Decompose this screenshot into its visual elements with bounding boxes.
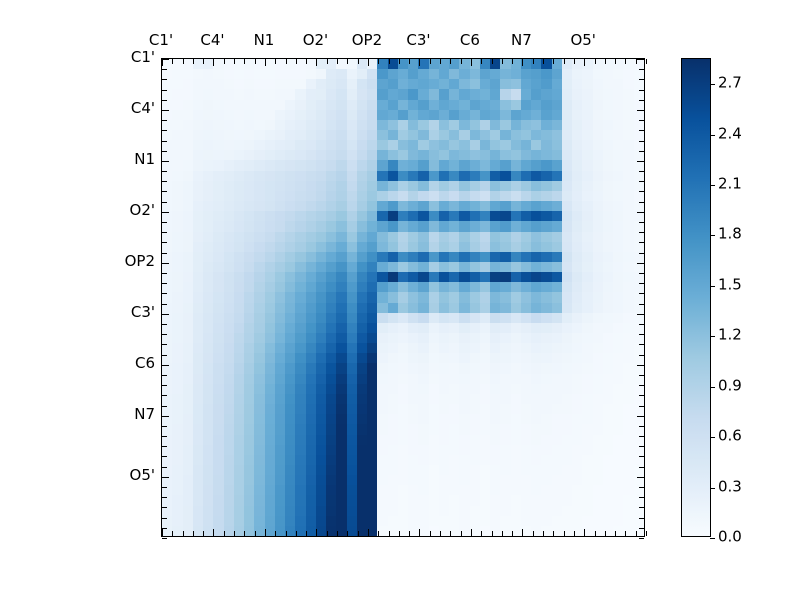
heatmap-cell: [265, 130, 275, 140]
heatmap-cell: [613, 191, 623, 201]
heatmap-cell: [470, 232, 480, 242]
heatmap-cell: [429, 394, 439, 404]
heatmap-cell: [490, 363, 500, 373]
heatmap-cell: [254, 455, 264, 465]
heatmap-cell: [490, 160, 500, 170]
heatmap-cell: [593, 232, 603, 242]
heatmap-cell: [183, 150, 193, 160]
heatmap-cell: [306, 475, 316, 485]
heatmap-cell: [480, 445, 490, 455]
heatmap-cell: [531, 171, 541, 181]
heatmap-cell: [388, 171, 398, 181]
heatmap-cell: [183, 191, 193, 201]
heatmap-cell: [418, 435, 428, 445]
heatmap-cell: [470, 384, 480, 394]
heatmap-cell: [613, 435, 623, 445]
axis-tick: [639, 191, 644, 192]
heatmap-cell: [552, 475, 562, 485]
heatmap-cell: [613, 130, 623, 140]
heatmap-cell: [285, 150, 295, 160]
heatmap-cell: [254, 252, 264, 262]
heatmap-cell: [490, 242, 500, 252]
heatmap-cell: [603, 262, 613, 272]
heatmap-cell: [367, 404, 377, 414]
heatmap-cell: [531, 211, 541, 221]
heatmap-cell: [295, 110, 305, 120]
heatmap-cell: [541, 313, 551, 323]
heatmap-cell: [326, 232, 336, 242]
heatmap-cell: [623, 140, 633, 150]
heatmap-cell: [347, 353, 357, 363]
heatmap-cell: [552, 384, 562, 394]
heatmap-cell: [254, 404, 264, 414]
heatmap-cell: [244, 59, 254, 69]
heatmap-cell: [582, 435, 592, 445]
heatmap-cell: [183, 404, 193, 414]
heatmap-cell: [439, 516, 449, 526]
heatmap-cell: [357, 343, 367, 353]
heatmap-cell: [459, 414, 469, 424]
heatmap-cell: [295, 201, 305, 211]
heatmap-cell: [623, 506, 633, 516]
heatmap-cell: [388, 495, 398, 505]
heatmap-cell: [213, 69, 223, 79]
heatmap-cell: [552, 343, 562, 353]
heatmap-cell: [213, 282, 223, 292]
heatmap-cell: [408, 516, 418, 526]
heatmap-cell: [439, 414, 449, 424]
heatmap-cell: [480, 100, 490, 110]
heatmap-cell: [552, 130, 562, 140]
heatmap-cell: [531, 506, 541, 516]
heatmap-cell: [295, 455, 305, 465]
heatmap-cell: [326, 201, 336, 211]
heatmap-cell: [224, 89, 234, 99]
heatmap-cell: [265, 313, 275, 323]
heatmap-cell: [613, 323, 623, 333]
heatmap-cell: [439, 445, 449, 455]
axis-tick: [492, 531, 493, 536]
heatmap-cell: [511, 171, 521, 181]
axis-tick: [639, 467, 644, 468]
heatmap-cell: [500, 465, 510, 475]
heatmap-cell: [582, 424, 592, 434]
heatmap-cell: [552, 89, 562, 99]
heatmap-cell: [541, 394, 551, 404]
heatmap-cell: [531, 353, 541, 363]
heatmap-cell: [593, 343, 603, 353]
heatmap-cell: [490, 445, 500, 455]
heatmap-cell: [203, 140, 213, 150]
axis-tick: [461, 59, 462, 64]
heatmap-cell: [203, 191, 213, 201]
heatmap-cell: [623, 89, 633, 99]
heatmap-cell: [470, 140, 480, 150]
heatmap-cell: [490, 130, 500, 140]
heatmap-cell: [418, 394, 428, 404]
heatmap-cell: [357, 424, 367, 434]
heatmap-cell: [316, 211, 326, 221]
heatmap-cell: [172, 485, 182, 495]
heatmap-cell: [357, 363, 367, 373]
heatmap-cell: [449, 221, 459, 231]
heatmap-cell: [582, 89, 592, 99]
heatmap-cell: [634, 140, 644, 150]
axis-tick: [639, 324, 644, 325]
axis-tick: [162, 171, 167, 172]
heatmap-cell: [326, 100, 336, 110]
heatmap-cell: [193, 333, 203, 343]
heatmap-cell: [398, 242, 408, 252]
heatmap-cell: [500, 232, 510, 242]
heatmap-cell: [295, 353, 305, 363]
axis-tick: [564, 59, 565, 64]
heatmap-cell: [480, 120, 490, 130]
heatmap-cell: [254, 303, 264, 313]
heatmap-cell: [634, 120, 644, 130]
colorbar[interactable]: [681, 58, 711, 537]
heatmap-cell: [244, 150, 254, 160]
heatmap-cell: [521, 424, 531, 434]
heatmap-cell: [193, 69, 203, 79]
heatmap-cell: [203, 363, 213, 373]
heatmap-cell: [500, 394, 510, 404]
heatmap-grid: [162, 59, 644, 536]
heatmap-cell: [511, 150, 521, 160]
axis-tick: [378, 59, 379, 64]
heatmap-cell: [449, 232, 459, 242]
heatmap-cell: [418, 110, 428, 120]
heatmap-cell: [326, 181, 336, 191]
heatmap-cell: [439, 435, 449, 445]
heatmap-cell: [490, 272, 500, 282]
heatmap-cell: [449, 465, 459, 475]
heatmap-cell: [347, 140, 357, 150]
heatmap-cell: [480, 262, 490, 272]
heatmap-cell: [511, 292, 521, 302]
heatmap-cell: [213, 485, 223, 495]
heatmap-cell: [418, 221, 428, 231]
heatmap-cell: [470, 323, 480, 333]
heatmap-cell: [193, 435, 203, 445]
heatmap-cell: [572, 323, 582, 333]
heatmap-cell: [377, 353, 387, 363]
heatmap-cell: [224, 506, 234, 516]
heatmap-cell: [326, 435, 336, 445]
axis-tick: [639, 202, 644, 203]
heatmap-cell: [285, 506, 295, 516]
axis-tick: [296, 531, 297, 536]
heatmap-cell: [531, 191, 541, 201]
axis-tick: [639, 497, 644, 498]
heatmap-cell: [623, 363, 633, 373]
heatmap-cell: [439, 495, 449, 505]
heatmap-cell: [480, 384, 490, 394]
heatmap-cell: [603, 516, 613, 526]
heatmap-cell: [275, 384, 285, 394]
heatmap-cell: [172, 181, 182, 191]
heatmap-cell: [459, 150, 469, 160]
heatmap-cell: [449, 506, 459, 516]
heatmap-cell: [347, 485, 357, 495]
heatmap-cell: [490, 100, 500, 110]
heatmap-cell: [275, 323, 285, 333]
heatmap-cell: [162, 181, 172, 191]
heatmap-cell: [306, 333, 316, 343]
heatmap-cell: [459, 363, 469, 373]
heatmap-cell: [265, 475, 275, 485]
heatmap-cell: [490, 475, 500, 485]
heatmap-cell: [521, 110, 531, 120]
heatmap-cell: [603, 89, 613, 99]
heatmap-cell: [541, 242, 551, 252]
figure-canvas: C1'C4'N1O2'OP2C3'C6N7O5' C1'C4'N1O2'OP2C…: [0, 0, 800, 600]
axis-tick: [522, 529, 523, 536]
heatmap-cell: [285, 485, 295, 495]
heatmap-cell: [418, 171, 428, 181]
heatmap-cell: [572, 455, 582, 465]
heatmap-cell: [326, 313, 336, 323]
heatmap-cell: [613, 455, 623, 465]
heatmap-cell: [285, 242, 295, 252]
heatmap-cell: [203, 414, 213, 424]
heatmap-cell: [541, 201, 551, 211]
heatmap-cell: [234, 485, 244, 495]
heatmap-cell: [377, 374, 387, 384]
heatmap-cell: [193, 181, 203, 191]
heatmap-cell: [613, 394, 623, 404]
heatmap-cell: [347, 414, 357, 424]
heatmap-cell: [511, 262, 521, 272]
heatmap-cell: [470, 404, 480, 414]
heatmap-cell: [490, 181, 500, 191]
heatmap-cell: [254, 506, 264, 516]
axis-tick: [162, 385, 167, 386]
heatmap-cell: [244, 404, 254, 414]
heatmap-cell: [511, 353, 521, 363]
heatmap-cell: [183, 353, 193, 363]
heatmap-cell: [203, 89, 213, 99]
heatmap-cell: [552, 282, 562, 292]
heatmap-cell: [244, 313, 254, 323]
heatmap-cell: [367, 455, 377, 465]
heatmap-cell: [562, 171, 572, 181]
heatmap-cell: [521, 435, 531, 445]
heatmap-cell: [265, 59, 275, 69]
heatmap-cell: [603, 69, 613, 79]
heatmap-cell: [172, 221, 182, 231]
heatmap-cell: [552, 211, 562, 221]
heatmap-cell: [234, 313, 244, 323]
heatmap-cell: [500, 333, 510, 343]
heatmap-cell: [213, 160, 223, 170]
heatmap-cell: [449, 150, 459, 160]
heatmap-cell: [234, 374, 244, 384]
heatmap-cell: [439, 333, 449, 343]
heatmap-cell: [398, 191, 408, 201]
heatmap-cell: [521, 191, 531, 201]
heatmap-cell: [613, 171, 623, 181]
heatmap-cell: [439, 140, 449, 150]
heatmap-cell: [234, 181, 244, 191]
heatmap-cell: [347, 79, 357, 89]
heatmap-cell: [572, 384, 582, 394]
heatmap-cell: [203, 150, 213, 160]
heatmap-cell: [367, 394, 377, 404]
heatmap-cell: [562, 242, 572, 252]
heatmap-cell: [562, 323, 572, 333]
heatmap-cell: [552, 252, 562, 262]
axis-tick: [595, 531, 596, 536]
heatmap-cell: [459, 272, 469, 282]
heatmap-cell: [316, 242, 326, 252]
heatmap-cell: [439, 485, 449, 495]
heatmap-cell: [500, 445, 510, 455]
heatmap-cell: [336, 110, 346, 120]
heatmap-cell: [306, 313, 316, 323]
heatmap-cell: [316, 343, 326, 353]
heatmap-cell: [265, 120, 275, 130]
heatmap-cell: [521, 100, 531, 110]
heatmap-cell: [295, 130, 305, 140]
heatmap-cell: [572, 242, 582, 252]
heatmap-cell: [480, 150, 490, 160]
heatmap-cell: [234, 201, 244, 211]
heatmap-cell: [531, 69, 541, 79]
heatmap-cell: [388, 485, 398, 495]
heatmap-cell: [398, 282, 408, 292]
heatmap-cell: [326, 516, 336, 526]
heatmap-cell: [172, 150, 182, 160]
heatmap-cell: [377, 414, 387, 424]
heatmap-cell: [531, 404, 541, 414]
heatmap-cell: [295, 242, 305, 252]
heatmap-cell: [531, 414, 541, 424]
heatmap-cell: [511, 100, 521, 110]
heatmap-cell: [459, 394, 469, 404]
heatmap-cell: [295, 282, 305, 292]
heatmap-cell: [500, 252, 510, 262]
heatmap-cell: [193, 282, 203, 292]
heatmap-cell: [511, 475, 521, 485]
heatmap-cell: [398, 516, 408, 526]
heatmap-cell: [203, 445, 213, 455]
heatmap-cell: [623, 323, 633, 333]
heatmap-cell: [582, 333, 592, 343]
heatmap-cell: [265, 414, 275, 424]
heatmap-cell: [224, 303, 234, 313]
heatmap-cell: [172, 69, 182, 79]
heatmap-cell: [183, 455, 193, 465]
colorbar-tick-label: 2.1: [718, 177, 742, 192]
colorbar-tick-label: 2.7: [718, 76, 742, 91]
heatmap-cell: [316, 191, 326, 201]
heatmap-cell: [572, 363, 582, 373]
heatmap-cell: [552, 414, 562, 424]
heatmap-cell: [603, 282, 613, 292]
heatmap-cell: [429, 150, 439, 160]
heatmap-cell: [316, 252, 326, 262]
heatmap-cell: [377, 130, 387, 140]
heatmap-cell: [408, 313, 418, 323]
heatmap-cell: [316, 313, 326, 323]
heatmap-cell: [213, 191, 223, 201]
x-tick-label: O2': [303, 33, 328, 48]
heatmap-cell: [562, 353, 572, 363]
heatmap-cell: [357, 191, 367, 201]
heatmap-cell: [265, 181, 275, 191]
heatmap-cell: [572, 89, 582, 99]
heatmap-cell: [367, 303, 377, 313]
heatmap-cell: [347, 455, 357, 465]
heatmap-cell: [593, 292, 603, 302]
heatmap-cell: [593, 435, 603, 445]
heatmap-cell: [203, 171, 213, 181]
heatmap-cell: [603, 211, 613, 221]
heatmap-cell: [336, 353, 346, 363]
heatmap-cell: [203, 435, 213, 445]
heatmap-cell: [234, 526, 244, 536]
heatmap-cell: [582, 79, 592, 89]
axis-tick: [162, 334, 167, 335]
heatmap-cell: [521, 506, 531, 516]
heatmap-cell: [562, 232, 572, 242]
heatmap-cell: [480, 404, 490, 414]
heatmap-cell: [603, 404, 613, 414]
axis-tick: [639, 446, 644, 447]
heatmap-cell: [552, 232, 562, 242]
heatmap-cell: [541, 506, 551, 516]
heatmap-cell: [603, 313, 613, 323]
heatmap-cell: [511, 343, 521, 353]
heatmap-cell: [593, 79, 603, 89]
heatmap-cell: [552, 455, 562, 465]
heatmap-cell: [500, 282, 510, 292]
heatmap-cell: [634, 79, 644, 89]
heatmap-cell: [623, 130, 633, 140]
heatmap-cell: [244, 252, 254, 262]
heatmap-cell: [398, 100, 408, 110]
heatmap-cell: [316, 333, 326, 343]
heatmap-cell: [429, 181, 439, 191]
heatmap-cell: [634, 150, 644, 160]
x-tick-label: C1': [149, 33, 173, 48]
heatmap-cell: [275, 171, 285, 181]
heatmap-cell: [531, 323, 541, 333]
axis-tick: [162, 232, 167, 233]
heatmap-cell: [398, 160, 408, 170]
heatmap-cell: [326, 404, 336, 414]
heatmap-cell: [541, 516, 551, 526]
heatmap-cell: [234, 292, 244, 302]
heatmap-cell: [377, 120, 387, 130]
heatmap-cell: [623, 120, 633, 130]
heatmap-cell: [224, 130, 234, 140]
heatmap-cell: [244, 160, 254, 170]
heatmap-cell: [254, 313, 264, 323]
heatmap-cell: [572, 150, 582, 160]
heatmap-axes[interactable]: [161, 58, 645, 537]
axis-tick: [553, 531, 554, 536]
heatmap-cell: [449, 292, 459, 302]
heatmap-cell: [541, 191, 551, 201]
heatmap-cell: [562, 201, 572, 211]
heatmap-cell: [244, 343, 254, 353]
heatmap-cell: [172, 201, 182, 211]
heatmap-cell: [582, 211, 592, 221]
heatmap-cell: [357, 221, 367, 231]
heatmap-cell: [347, 516, 357, 526]
